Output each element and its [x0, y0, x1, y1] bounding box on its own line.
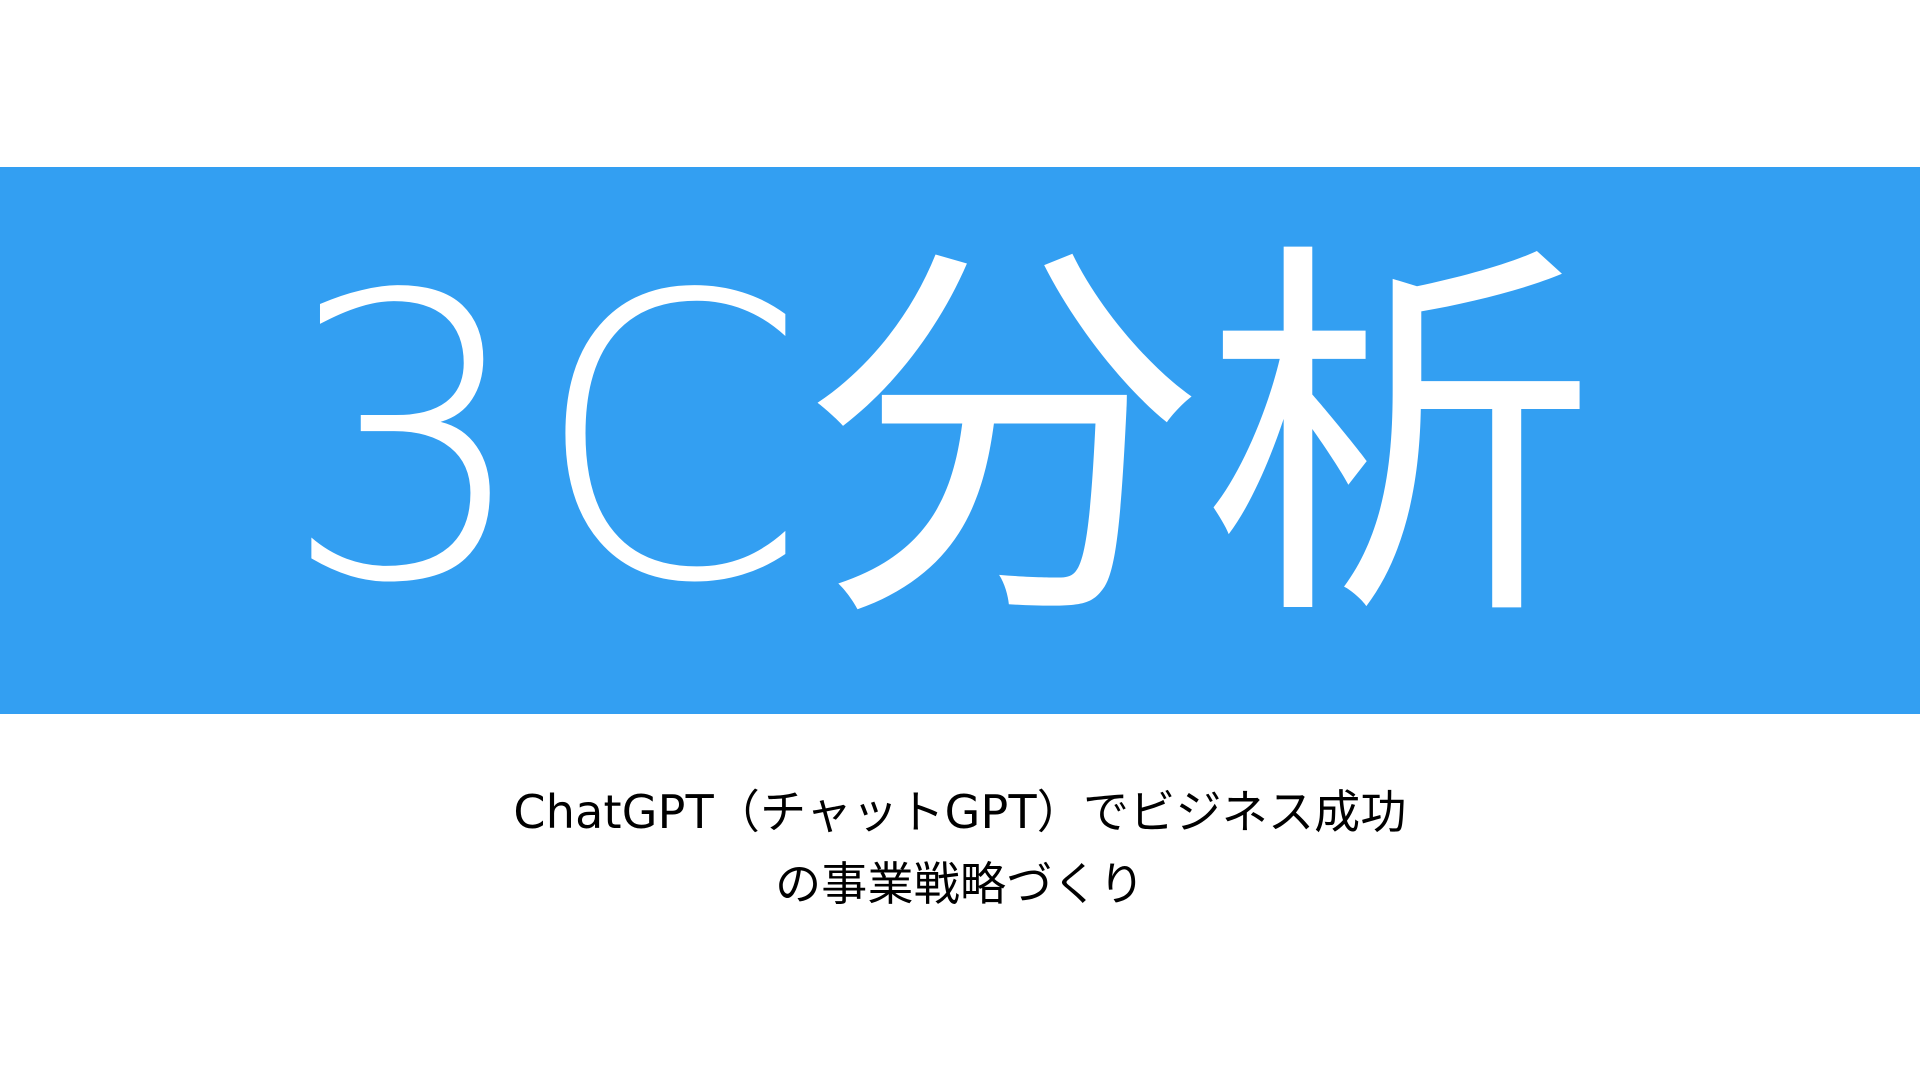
title-banner: 3C分析 — [0, 167, 1920, 714]
subtitle-line-1: ChatGPT（チャットGPT）でビジネス成功 — [0, 776, 1920, 848]
title-slide: 3C分析 ChatGPT（チャットGPT）でビジネス成功 の事業戦略づくり — [0, 0, 1920, 1080]
subtitle: ChatGPT（チャットGPT）でビジネス成功 の事業戦略づくり — [0, 776, 1920, 920]
page-title: 3C分析 — [0, 167, 1920, 714]
subtitle-line-2: の事業戦略づくり — [0, 848, 1920, 920]
